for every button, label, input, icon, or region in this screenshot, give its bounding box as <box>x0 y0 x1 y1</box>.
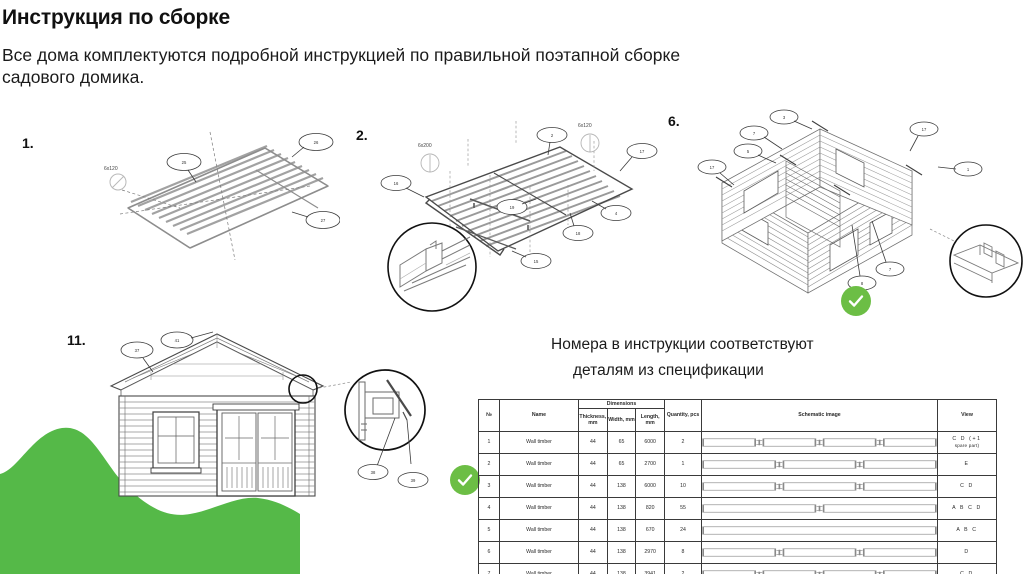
svg-text:17: 17 <box>922 127 927 132</box>
cell-view: C D (+1spare part) <box>938 432 997 454</box>
spec-caption-line-1: Номера в инструкции соответствуют <box>551 332 931 358</box>
svg-text:41: 41 <box>175 338 180 343</box>
cell-width: 138 <box>607 498 636 520</box>
step-2-fastener-note-a: 6x200 <box>418 143 432 149</box>
step-2-balloon-2: 2 <box>537 128 567 156</box>
step-6-detail-circle <box>930 225 1022 297</box>
col-header-length: Length, mm <box>636 409 665 432</box>
cell-view: A B C D <box>938 498 997 520</box>
step-2-balloon-15: 15 <box>512 251 551 269</box>
cell-name: Wall timber <box>500 432 579 454</box>
cell-quantity: 2 <box>665 432 702 454</box>
svg-text:39: 39 <box>411 478 416 483</box>
cell-view-main: C D (+1 <box>952 436 981 442</box>
svg-text:15: 15 <box>534 259 539 264</box>
cell-quantity: 10 <box>665 476 702 498</box>
cell-length: 2970 <box>636 542 665 564</box>
check-badge-spec <box>450 465 480 495</box>
cell-schematic-image <box>702 432 938 454</box>
col-header-thickness: Thickness, mm <box>579 409 608 432</box>
cell-no: 1 <box>479 432 500 454</box>
svg-text:37: 37 <box>135 348 140 353</box>
cell-width: 65 <box>607 432 636 454</box>
step-1-fastener-note: 6x120 <box>104 166 118 172</box>
cell-view: E <box>938 454 997 476</box>
cell-no: 3 <box>479 476 500 498</box>
cell-width: 138 <box>607 476 636 498</box>
cell-name: Wall timber <box>500 564 579 574</box>
cell-name: Wall timber <box>500 476 579 498</box>
cell-no: 6 <box>479 542 500 564</box>
col-header-schematic: Schematic image <box>702 400 938 432</box>
cell-quantity: 1 <box>665 454 702 476</box>
step-11-figure: 41 37 38 <box>55 320 435 520</box>
step-6-balloon-1: 1 <box>938 162 982 176</box>
cell-view: A B C <box>938 520 997 542</box>
col-header-view: View <box>938 400 997 432</box>
cell-schematic-image <box>702 564 938 574</box>
step-2-fastener-note-b: 6x120 <box>578 123 592 129</box>
step-2-balloon-4: 4 <box>592 201 631 221</box>
cell-length: 6000 <box>636 476 665 498</box>
step-1-number: 1. <box>22 135 34 151</box>
cell-view-main: D <box>964 549 969 555</box>
step-11: 11. <box>55 320 435 520</box>
step-2-detail-circle <box>388 223 476 311</box>
step-6-number: 6. <box>668 113 680 129</box>
step-6-balloon-3: 3 <box>770 110 812 129</box>
cell-view: C D <box>938 476 997 498</box>
step-6-balloon-5: 5 <box>734 144 776 163</box>
cell-schematic-image <box>702 454 938 476</box>
cell-quantity: 24 <box>665 520 702 542</box>
svg-text:26: 26 <box>314 140 319 145</box>
check-icon <box>456 471 474 489</box>
step-6-balloon-17b: 17 <box>910 122 938 151</box>
cell-view-main: A B C <box>956 527 977 533</box>
spec-table-container: № Name Dimensions Quantity, pcs Schemati… <box>478 399 997 574</box>
cell-view: D <box>938 542 997 564</box>
svg-text:38: 38 <box>371 470 376 475</box>
cell-thickness: 44 <box>579 498 608 520</box>
svg-text:25: 25 <box>182 160 187 165</box>
page-title: Инструкция по сборке <box>2 6 230 30</box>
intro-paragraph: Все дома комплектуются подробной инструк… <box>2 44 702 88</box>
step-1-balloon-27: 27 <box>292 212 340 229</box>
cell-length: 3941 <box>636 564 665 574</box>
step-6-figure: 3 7 5 17 17 1 8 <box>680 105 1024 305</box>
table-row: 6Wall timber4413829708D <box>479 542 997 564</box>
spec-caption: Номера в инструкции соответствуют деталя… <box>551 332 931 384</box>
step-2-balloon-16: 16 <box>381 176 424 198</box>
svg-text:19: 19 <box>510 205 515 210</box>
table-row: 3Wall timber44138600010C D <box>479 476 997 498</box>
check-icon <box>847 292 865 310</box>
step-6: 6. <box>660 105 1024 305</box>
step-11-balloon-39: 39 <box>398 473 428 488</box>
step-1-balloon-26: 26 <box>292 134 333 158</box>
cell-schematic-image <box>702 498 938 520</box>
cell-length: 670 <box>636 520 665 542</box>
cell-quantity: 8 <box>665 542 702 564</box>
step-2: 2. 6x200 6x120 <box>348 115 658 315</box>
cell-quantity: 55 <box>665 498 702 520</box>
step-1: 1. 6x120 25 <box>0 120 340 260</box>
cell-name: Wall timber <box>500 454 579 476</box>
spec-table: № Name Dimensions Quantity, pcs Schemati… <box>478 399 997 574</box>
col-header-quantity: Quantity, pcs <box>665 400 702 432</box>
cell-thickness: 44 <box>579 432 608 454</box>
cell-name: Wall timber <box>500 520 579 542</box>
cell-width: 138 <box>607 564 636 574</box>
spec-table-body: 1Wall timber446560002C D (+1spare part)2… <box>479 432 997 574</box>
cell-quantity: 2 <box>665 564 702 574</box>
step-1-figure: 6x120 25 26 27 <box>60 120 340 260</box>
cell-width: 65 <box>607 454 636 476</box>
cell-schematic-image <box>702 476 938 498</box>
spec-table-head: № Name Dimensions Quantity, pcs Schemati… <box>479 400 997 432</box>
cell-view-main: E <box>964 461 969 467</box>
col-header-dimensions-group: Dimensions <box>579 400 665 409</box>
cell-view-main: C D <box>960 483 974 489</box>
cell-thickness: 44 <box>579 564 608 574</box>
svg-text:16: 16 <box>394 181 399 186</box>
table-row: 7Wall timber4413839412C D <box>479 564 997 574</box>
col-header-width: Width, mm <box>607 409 636 432</box>
cell-thickness: 44 <box>579 520 608 542</box>
col-header-no: № <box>479 400 500 432</box>
cell-view-main: A B C D <box>952 505 982 511</box>
cell-length: 820 <box>636 498 665 520</box>
cell-view-extra: spare part) <box>938 443 996 449</box>
spec-caption-line-2: деталям из спецификации <box>551 358 931 384</box>
cell-width: 138 <box>607 542 636 564</box>
step-2-number: 2. <box>356 127 368 143</box>
cell-length: 2700 <box>636 454 665 476</box>
cell-length: 6000 <box>636 432 665 454</box>
step-2-balloon-18: 18 <box>563 213 593 241</box>
svg-text:17: 17 <box>710 165 715 170</box>
cell-thickness: 44 <box>579 454 608 476</box>
svg-text:27: 27 <box>321 218 326 223</box>
table-row: 2Wall timber446527001E <box>479 454 997 476</box>
cell-schematic-image <box>702 520 938 542</box>
check-badge-step6 <box>841 286 871 316</box>
cell-name: Wall timber <box>500 542 579 564</box>
table-row: 1Wall timber446560002C D (+1spare part) <box>479 432 997 454</box>
cell-no: 5 <box>479 520 500 542</box>
step-2-balloon-17: 17 <box>620 144 657 172</box>
cell-view: C D <box>938 564 997 574</box>
table-row: 5Wall timber4413867024A B C <box>479 520 997 542</box>
cell-no: 7 <box>479 564 500 574</box>
cell-no: 2 <box>479 454 500 476</box>
cell-name: Wall timber <box>500 498 579 520</box>
cell-width: 138 <box>607 520 636 542</box>
svg-text:18: 18 <box>576 231 581 236</box>
cell-thickness: 44 <box>579 542 608 564</box>
cell-thickness: 44 <box>579 476 608 498</box>
table-row: 4Wall timber4413882055A B C D <box>479 498 997 520</box>
step-11-balloon-38: 38 <box>358 465 388 480</box>
cell-schematic-image <box>702 542 938 564</box>
spec-table-header-row-1: № Name Dimensions Quantity, pcs Schemati… <box>479 400 997 409</box>
step-2-figure: 6x200 6x120 2 17 16 19 18 <box>370 115 660 315</box>
cell-no: 4 <box>479 498 500 520</box>
svg-text:17: 17 <box>640 149 645 154</box>
col-header-name: Name <box>500 400 579 432</box>
